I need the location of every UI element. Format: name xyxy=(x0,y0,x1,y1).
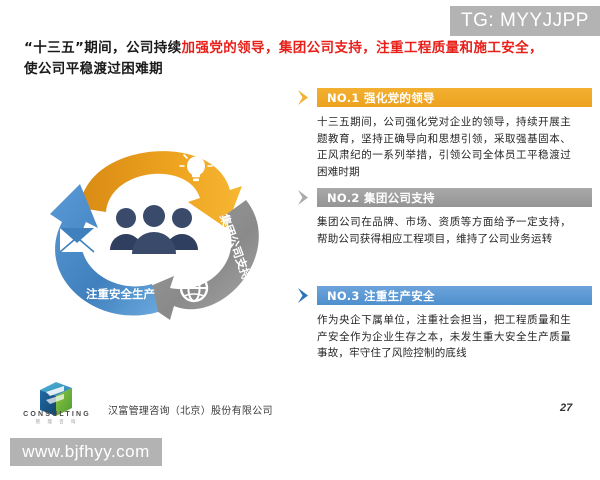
block-2-header: NO.2 集团公司支持 xyxy=(296,188,592,207)
block-1-header: NO.1 强化党的领导 xyxy=(296,88,592,107)
page-title: “十三五”期间，公司持续加强党的领导，集团公司支持，注重工程质量和施工安全， 使… xyxy=(24,38,580,80)
block-1-title-bar: NO.1 强化党的领导 xyxy=(317,88,592,107)
block-2-no: NO.2 xyxy=(327,191,360,205)
watermark-bottom-left: www.bjfhyy.com xyxy=(10,438,162,466)
chevron-right-icon xyxy=(296,188,314,207)
block-1-body: 十三五期间，公司强化党对企业的领导，持续开展主题教育，坚持正确导向和思想引领，采… xyxy=(317,114,571,180)
cycle-diagram: 强化党的领导 集团公司支持 xyxy=(18,98,290,330)
block-3-no: NO.3 xyxy=(327,289,360,303)
envelope-icon xyxy=(60,228,94,252)
logo-subtext: 管 理 咨 询 xyxy=(20,419,94,425)
block-3-header: NO.3 注重生产安全 xyxy=(296,286,592,305)
block-1-no: NO.1 xyxy=(327,91,360,105)
block-3-title: 注重生产安全 xyxy=(364,288,435,304)
content-panel: NO.1 强化党的领导 十三五期间，公司强化党对企业的领导，持续开展主题教育，坚… xyxy=(296,88,592,388)
headline-highlight: 加强党的领导，集团公司支持，注重工程质量和施工安全， xyxy=(182,40,543,56)
content-block-3: NO.3 注重生产安全 作为央企下属单位，注重社会担当，把工程质量和生产安全作为… xyxy=(296,286,592,382)
headline-tail: 使公司平稳渡过困难期 xyxy=(24,61,163,77)
slide-canvas: TG: MYYJJPP “十三五”期间，公司持续加强党的领导，集团公司支持，注重… xyxy=(0,0,600,480)
chevron-right-icon xyxy=(296,286,314,305)
block-2-body: 集团公司在品牌、市场、资质等方面给予一定支持，帮助公司获得相应工程项目，维持了公… xyxy=(317,214,571,247)
logo-wordmark: CONSULTING xyxy=(20,411,94,418)
block-3-body: 作为央企下属单位，注重社会担当，把工程质量和生产安全作为企业生存之本，未发生重大… xyxy=(317,312,571,362)
block-2-title: 集团公司支持 xyxy=(364,190,435,206)
content-block-1: NO.1 强化党的领导 十三五期间，公司强化党对企业的领导，持续开展主题教育，坚… xyxy=(296,88,592,182)
block-2-title-bar: NO.2 集团公司支持 xyxy=(317,188,592,207)
chevron-right-icon xyxy=(296,88,314,107)
content-block-2: NO.2 集团公司支持 集团公司在品牌、市场、资质等方面给予一定支持，帮助公司获… xyxy=(296,188,592,280)
diagram-label-left: 注重安全生产 xyxy=(86,287,155,301)
company-name: 汉富管理咨询（北京）股份有限公司 xyxy=(108,402,273,417)
block-1-title: 强化党的领导 xyxy=(364,90,435,106)
block-3-title-bar: NO.3 注重生产安全 xyxy=(317,286,592,305)
headline-lead: “十三五”期间，公司持续 xyxy=(24,40,182,56)
page-number: 27 xyxy=(560,402,572,414)
watermark-top-right: TG: MYYJJPP xyxy=(450,6,600,36)
